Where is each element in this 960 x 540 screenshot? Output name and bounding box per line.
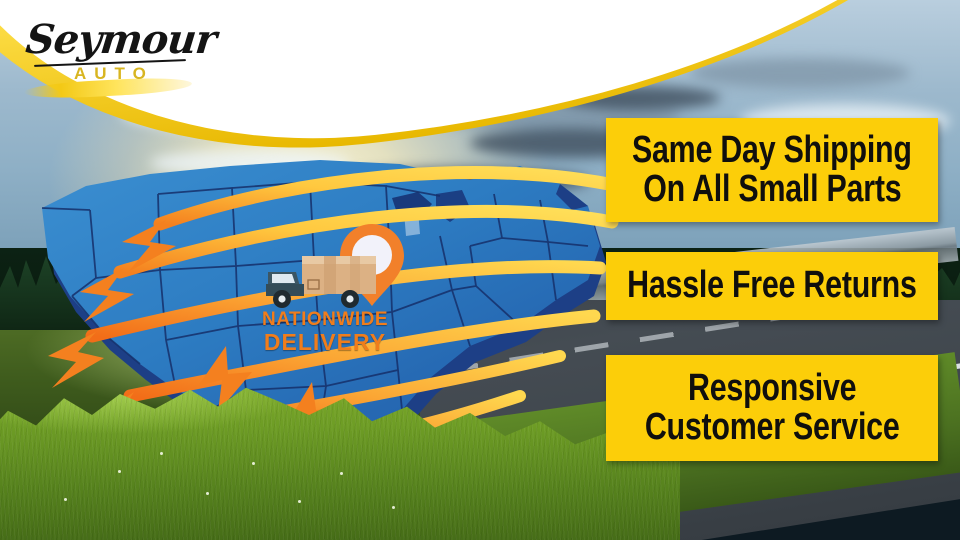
banner-line: Same Day Shipping — [632, 131, 912, 170]
promo-banner-canvas: NATIONWIDE DELIVERY Seymour AUTO Same Da… — [0, 0, 960, 540]
feature-banner-responsive-customer-service[interactable]: Responsive Customer Service — [606, 355, 938, 461]
feature-banner-hassle-free-returns[interactable]: Hassle Free Returns — [606, 252, 938, 320]
banner-line: Customer Service — [645, 408, 900, 447]
logo-subtitle: AUTO — [74, 64, 154, 84]
banner-line: Responsive — [688, 369, 856, 408]
banner-line: On All Small Parts — [643, 170, 901, 209]
logo-brand-name: Seymour — [24, 16, 219, 63]
feature-banner-same-day-shipping[interactable]: Same Day Shipping On All Small Parts — [606, 118, 938, 222]
seymour-auto-logo[interactable]: Seymour AUTO — [18, 12, 218, 100]
banner-line: Hassle Free Returns — [627, 266, 916, 305]
